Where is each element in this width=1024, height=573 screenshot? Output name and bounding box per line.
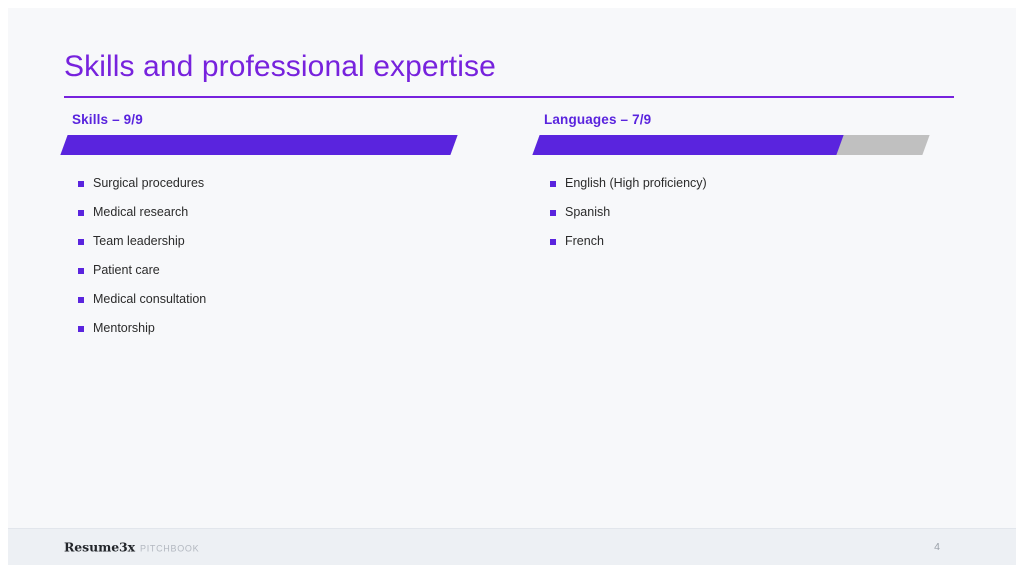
list-item: Team leadership [64,227,454,256]
list-item: Surgical procedures [64,169,454,198]
square-bullet-icon [78,239,84,245]
slide-frame: Skills and professional expertise Skills… [0,0,1024,573]
skills-list: Surgical procedures Medical research Tea… [64,169,454,343]
title-divider [64,96,954,98]
list-item: Medical consultation [64,285,454,314]
list-item: French [536,227,926,256]
square-bullet-icon [78,210,84,216]
languages-progress-bar [536,135,926,155]
list-item-label: Patient care [93,264,160,277]
skills-progress-bar [64,135,454,155]
languages-heading: Languages – 7/9 [544,112,926,127]
square-bullet-icon [78,326,84,332]
brand-logo: Resume3x PITCHBOOK [64,540,199,555]
title-block: Skills and professional expertise [64,50,954,98]
list-item-label: Medical research [93,206,188,219]
list-item-label: Medical consultation [93,293,206,306]
skills-column: Skills – 9/9 Surgical procedures Medical… [64,112,454,343]
slide-footer: Resume3x PITCHBOOK 4 [8,528,1016,565]
square-bullet-icon [78,268,84,274]
square-bullet-icon [550,210,556,216]
languages-list: English (High proficiency) Spanish Frenc… [536,169,926,256]
list-item-label: French [565,235,604,248]
list-item: Medical research [64,198,454,227]
list-item-label: Team leadership [93,235,185,248]
brand-logo-name: Resume3x [64,540,135,555]
list-item-label: Mentorship [93,322,155,335]
languages-column: Languages – 7/9 English (High proficienc… [536,112,926,256]
content-columns: Skills – 9/9 Surgical procedures Medical… [64,112,964,372]
list-item: English (High proficiency) [536,169,926,198]
skills-progress-fill [60,135,457,155]
square-bullet-icon [550,181,556,187]
brand-logo-subtitle: PITCHBOOK [140,544,199,554]
square-bullet-icon [78,181,84,187]
list-item-label: English (High proficiency) [565,177,707,190]
page-number: 4 [934,541,940,553]
page-title: Skills and professional expertise [64,50,954,85]
list-item: Spanish [536,198,926,227]
square-bullet-icon [550,239,556,245]
square-bullet-icon [78,297,84,303]
languages-progress-fill [532,135,843,155]
skills-heading: Skills – 9/9 [72,112,454,127]
list-item: Patient care [64,256,454,285]
list-item: Mentorship [64,314,454,343]
list-item-label: Spanish [565,206,610,219]
list-item-label: Surgical procedures [93,177,204,190]
slide-canvas: Skills and professional expertise Skills… [8,8,1016,565]
